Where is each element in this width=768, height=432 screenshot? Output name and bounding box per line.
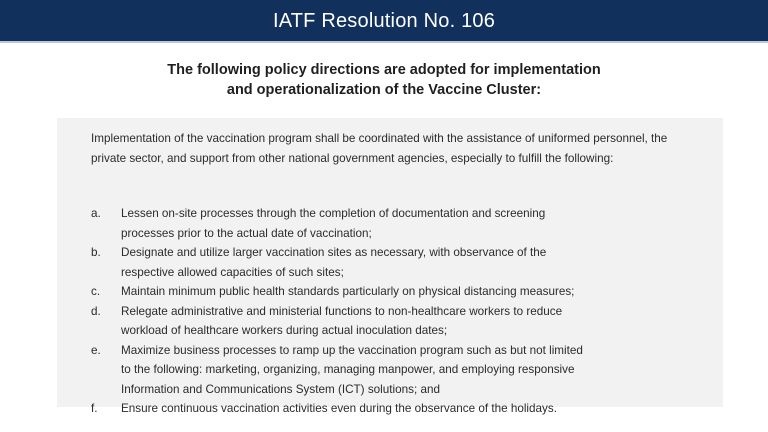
list-item-marker: a. (91, 204, 121, 224)
list-item-line: Maximize business processes to ramp up t… (121, 341, 705, 361)
list-item-line: processes prior to the actual date of va… (121, 224, 705, 244)
list-item-text: Lessen on-site processes through the com… (121, 204, 705, 243)
list-item-marker: b. (91, 243, 121, 263)
list-item-marker: c. (91, 282, 121, 302)
list-item-line: Maintain minimum public health standards… (121, 282, 705, 302)
list-item-line: Designate and utilize larger vaccination… (121, 243, 705, 263)
subtitle-line-2: and operationalization of the Vaccine Cl… (0, 80, 768, 100)
list-item-line: Information and Communications System (I… (121, 380, 705, 400)
list-item-line: Relegate administrative and ministerial … (121, 302, 705, 322)
page-title: IATF Resolution No. 106 (273, 11, 495, 31)
list-item-text: Ensure continuous vaccination activities… (121, 399, 705, 419)
list-item: f. Ensure continuous vaccination activit… (91, 399, 705, 419)
list-item-text: Maintain minimum public health standards… (121, 282, 705, 302)
list-item: d. Relegate administrative and ministeri… (91, 302, 705, 341)
slide: IATF Resolution No. 106 The following po… (0, 0, 768, 432)
list-item-marker: e. (91, 341, 121, 361)
list-item-text: Designate and utilize larger vaccination… (121, 243, 705, 282)
content-panel: Implementation of the vaccination progra… (57, 118, 723, 407)
list-item-line: respective allowed capacities of such si… (121, 263, 705, 283)
list-item: c. Maintain minimum public health standa… (91, 282, 705, 302)
list-item: a. Lessen on-site processes through the … (91, 204, 705, 243)
list-item-line: to the following: marketing, organizing,… (121, 360, 705, 380)
policy-list: a. Lessen on-site processes through the … (91, 204, 705, 419)
list-item-marker: f. (91, 399, 121, 419)
list-item-marker: d. (91, 302, 121, 322)
intro-line-3: agencies, especially to fulfill the foll… (398, 152, 614, 165)
list-item-text: Relegate administrative and ministerial … (121, 302, 705, 341)
subtitle-heading: The following policy directions are adop… (0, 60, 768, 100)
list-item: b. Designate and utilize larger vaccinat… (91, 243, 705, 282)
header-divider (0, 41, 768, 43)
list-item-line: workload of healthcare workers during ac… (121, 321, 705, 341)
list-item-line: Ensure continuous vaccination activities… (121, 399, 705, 419)
header-banner: IATF Resolution No. 106 (0, 0, 768, 41)
subtitle-line-1: The following policy directions are adop… (0, 60, 768, 80)
intro-line-1: Implementation of the vaccination progra… (91, 132, 535, 145)
list-item-text: Maximize business processes to ramp up t… (121, 341, 705, 400)
list-item-line: Lessen on-site processes through the com… (121, 204, 705, 224)
intro-paragraph: Implementation of the vaccination progra… (91, 129, 691, 168)
list-item: e. Maximize business processes to ramp u… (91, 341, 705, 400)
